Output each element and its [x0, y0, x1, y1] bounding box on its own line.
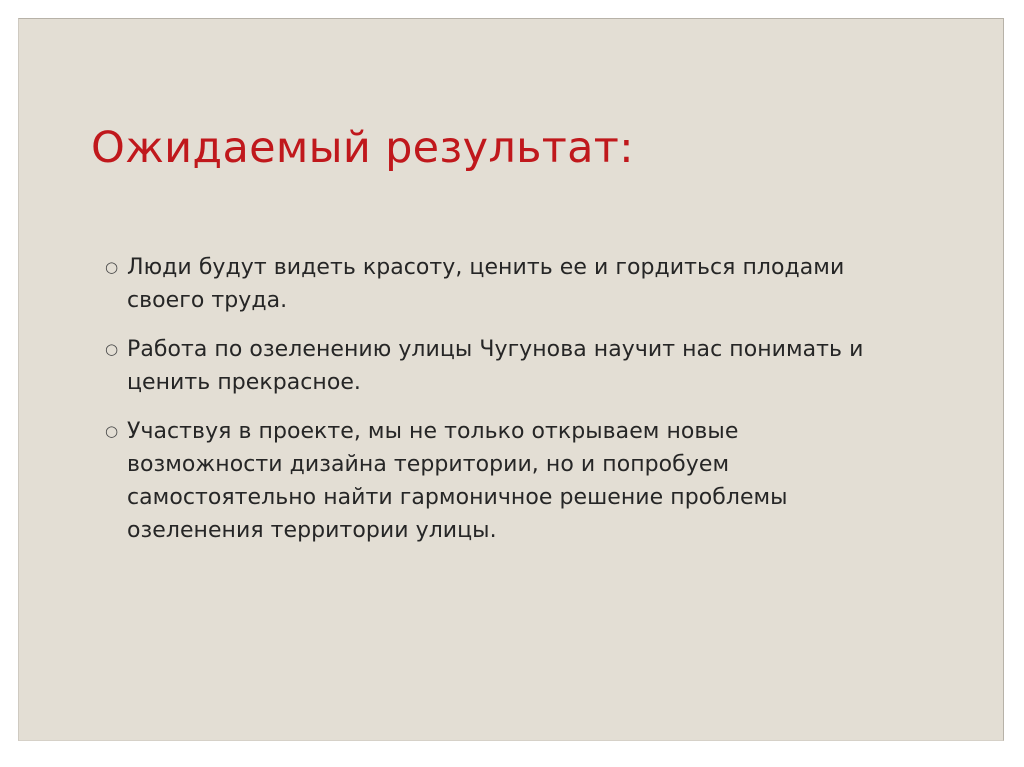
list-item-text: Работа по озеленению улицы Чугунова науч…	[127, 333, 949, 399]
list-item: ○ Участвуя в проекте, мы не только откры…	[87, 415, 967, 547]
list-item-text: Участвуя в проекте, мы не только открыва…	[127, 415, 897, 547]
presentation-slide: Ожидаемый результат: ○ Люди будут видеть…	[18, 18, 1004, 741]
list-item: ○ Люди будут видеть красоту, ценить ее и…	[87, 251, 967, 317]
list-item-text: Люди будут видеть красоту, ценить ее и г…	[127, 251, 917, 317]
slide-title: Ожидаемый результат:	[91, 123, 951, 174]
list-item: ○ Работа по озеленению улицы Чугунова на…	[87, 333, 967, 399]
hollow-circle-bullet-icon: ○	[105, 251, 119, 284]
hollow-circle-bullet-icon: ○	[105, 415, 119, 448]
hollow-circle-bullet-icon: ○	[105, 333, 119, 366]
slide-canvas: Ожидаемый результат: ○ Люди будут видеть…	[0, 0, 1024, 767]
bullet-list: ○ Люди будут видеть красоту, ценить ее и…	[87, 251, 967, 547]
